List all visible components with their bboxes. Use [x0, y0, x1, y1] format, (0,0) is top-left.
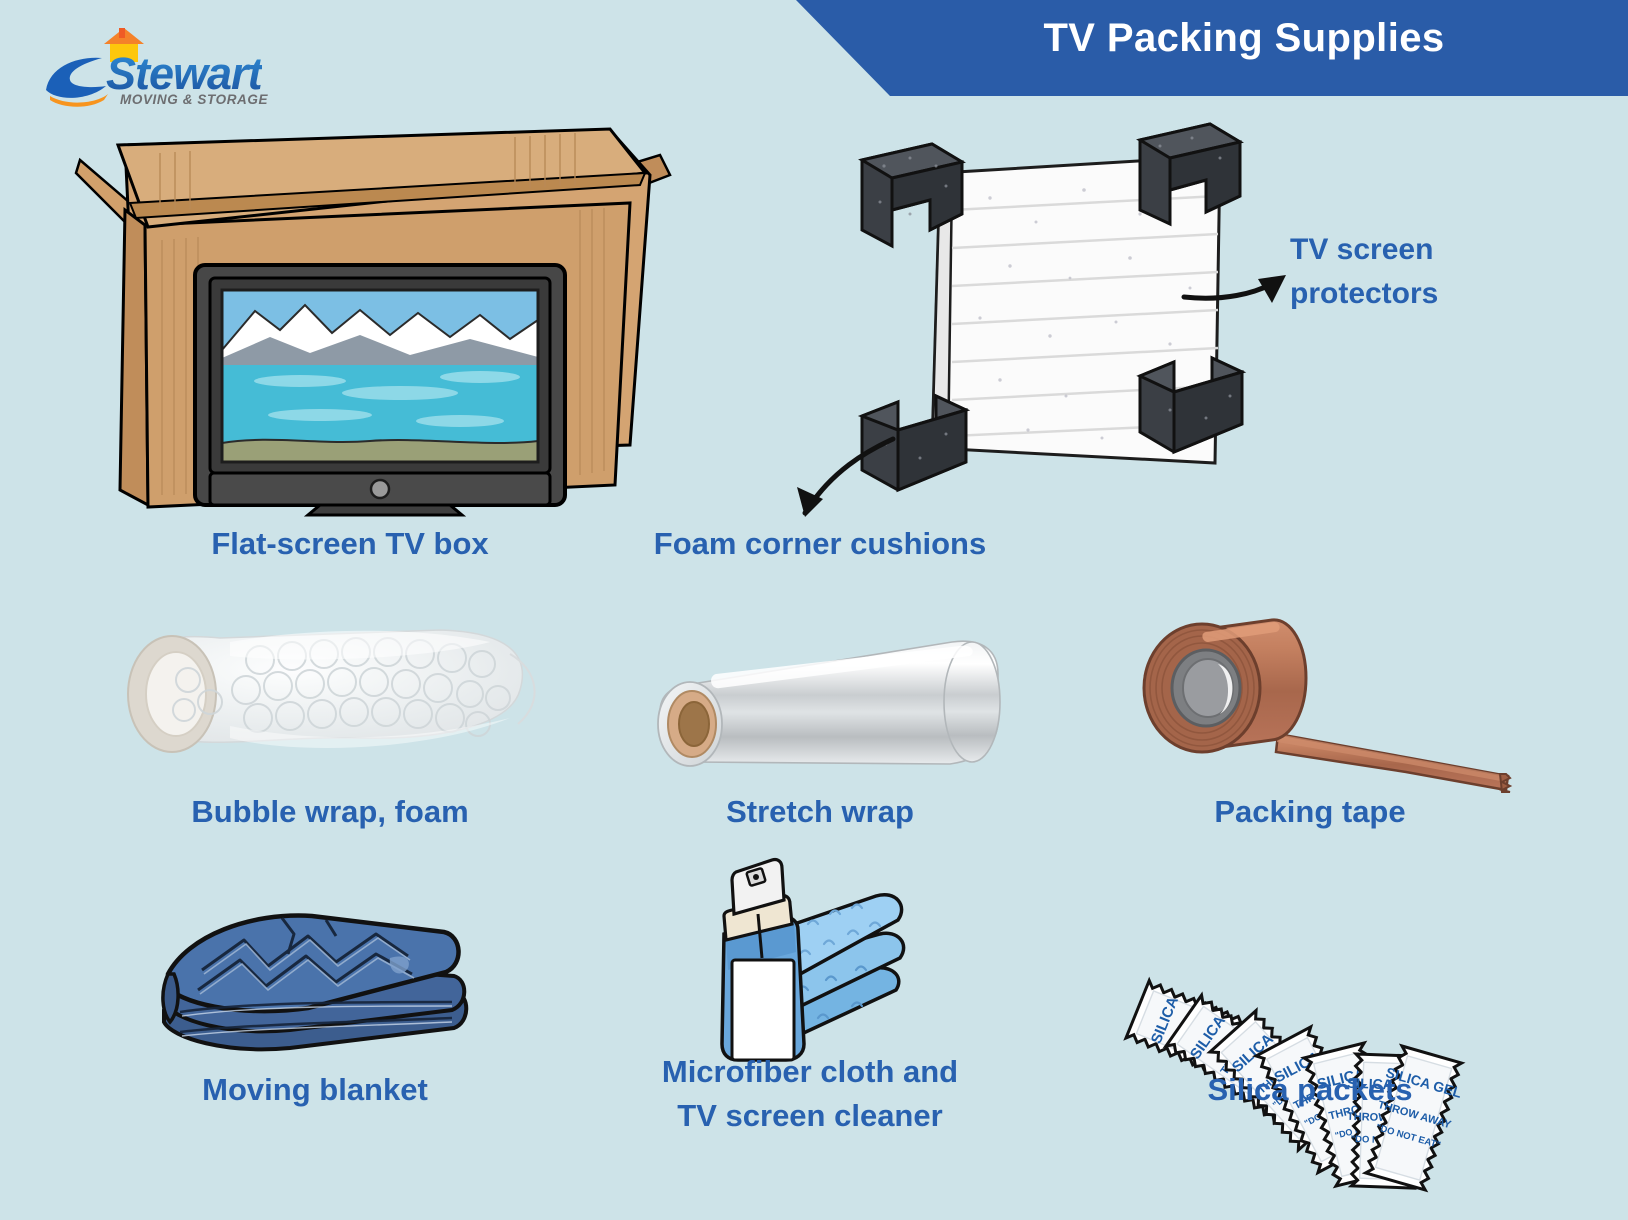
spray-bottle-icon — [722, 859, 804, 1060]
illustration-silica-packets: SILICA THROW "DO NOT SILICA THROW "DO NO… — [1070, 840, 1470, 1060]
illustration-moving-blanket — [140, 862, 500, 1062]
label-microfiber-cleaner: Microfiber cloth and TV screen cleaner — [570, 1050, 1050, 1138]
label-flat-screen-tv-box: Flat-screen TV box — [120, 524, 580, 564]
illustration-packing-tape-roll — [1110, 582, 1510, 792]
page-title: TV Packing Supplies — [770, 16, 1628, 61]
label-packing-tape: Packing tape — [1090, 792, 1530, 832]
label-foam-corner-cushions: Foam corner cushions — [600, 524, 1040, 564]
callout-tv-screen-protectors: TV screen protectors — [1290, 228, 1590, 316]
label-bubble-wrap-foam: Bubble wrap, foam — [110, 792, 550, 832]
label-stretch-wrap: Stretch wrap — [610, 792, 1030, 832]
company-logo[interactable]: Stewart MOVING & STORAGE — [44, 16, 284, 108]
logo-tagline: MOVING & STORAGE — [120, 92, 268, 107]
curved-arrow-down-left-icon — [775, 425, 905, 525]
illustration-microfiber-cloth-and-cleaner — [680, 848, 940, 1060]
illustration-flat-screen-tv-box — [70, 115, 670, 515]
illustration-bubble-wrap-roll — [110, 598, 550, 788]
label-silica-packets: Silica packets — [1090, 1070, 1530, 1110]
label-moving-blanket: Moving blanket — [90, 1070, 540, 1110]
illustration-stretch-wrap-roll — [620, 602, 1020, 792]
logo-swoosh — [46, 58, 106, 98]
header-banner: TV Packing Supplies — [770, 0, 1628, 96]
